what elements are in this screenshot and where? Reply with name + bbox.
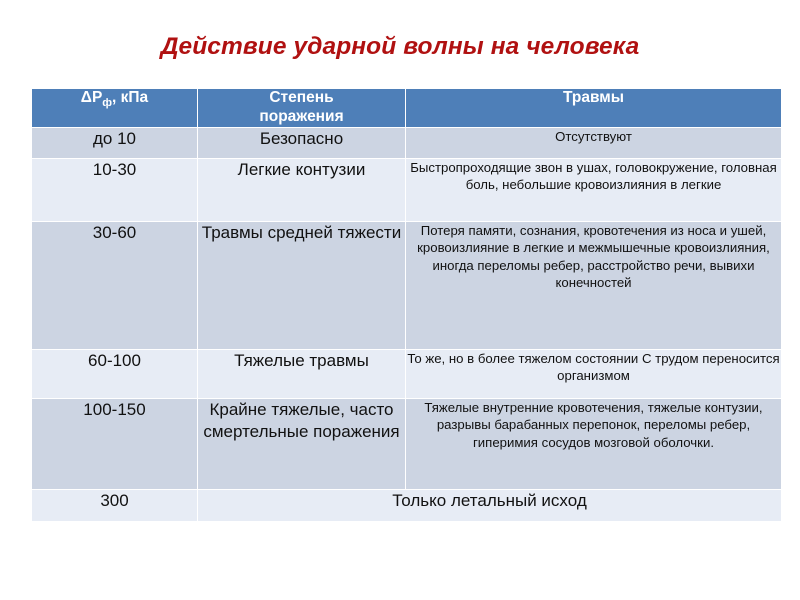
- table-row: 30-60 Травмы средней тяжести Потеря памя…: [32, 221, 782, 349]
- column-header-injuries: Травмы: [406, 89, 782, 128]
- cell-outcome-merged: Только летальный исход: [198, 489, 782, 521]
- cell-pressure: 100-150: [32, 398, 198, 489]
- table-header-row: ΔPф, кПа Степеньпоражения Травмы: [32, 89, 782, 128]
- cell-pressure: до 10: [32, 127, 198, 158]
- column-header-pressure: ΔPф, кПа: [32, 89, 198, 128]
- cell-pressure: 30-60: [32, 221, 198, 349]
- slide-canvas: Действие ударной волны на человека ΔPф, …: [0, 0, 800, 600]
- cell-severity: Травмы средней тяжести: [198, 221, 406, 349]
- column-header-severity: Степеньпоражения: [198, 89, 406, 128]
- cell-injuries: То же, но в более тяжелом состоянии С тр…: [406, 349, 782, 398]
- column-header-pressure-units: , кПа: [112, 89, 148, 106]
- table-row: 100-150 Крайне тяжелые, часто смертельны…: [32, 398, 782, 489]
- column-header-pressure-prefix: ΔP: [81, 89, 102, 106]
- cell-pressure: 10-30: [32, 158, 198, 221]
- cell-injuries: Тяжелые внутренние кровотечения, тяжелые…: [406, 398, 782, 489]
- column-header-pressure-subscript: ф: [102, 97, 112, 109]
- table-body: до 10 Безопасно Отсутствуют 10-30 Легкие…: [32, 127, 782, 521]
- column-header-severity-line2: поражения: [259, 108, 343, 125]
- column-header-severity-line1: Степень: [269, 89, 333, 106]
- table-header: ΔPф, кПа Степеньпоражения Травмы: [32, 89, 782, 128]
- cell-severity: Безопасно: [198, 127, 406, 158]
- cell-injuries: Отсутствуют: [406, 127, 782, 158]
- shock-wave-effects-table: ΔPф, кПа Степеньпоражения Травмы до 10 Б…: [31, 88, 782, 522]
- shock-wave-effects-table-container: ΔPф, кПа Степеньпоражения Травмы до 10 Б…: [31, 88, 781, 522]
- cell-injuries: Быстропроходящие звон в ушах, головокруж…: [406, 158, 782, 221]
- cell-injuries: Потеря памяти, сознания, кровотечения из…: [406, 221, 782, 349]
- cell-severity: Крайне тяжелые, часто смертельные пораже…: [198, 398, 406, 489]
- table-row: до 10 Безопасно Отсутствуют: [32, 127, 782, 158]
- page-title: Действие ударной волны на человека: [0, 33, 800, 61]
- cell-pressure: 60-100: [32, 349, 198, 398]
- cell-severity: Тяжелые травмы: [198, 349, 406, 398]
- table-row: 300 Только летальный исход: [32, 489, 782, 521]
- cell-severity: Легкие контузии: [198, 158, 406, 221]
- table-row: 60-100 Тяжелые травмы То же, но в более …: [32, 349, 782, 398]
- table-row: 10-30 Легкие контузии Быстропроходящие з…: [32, 158, 782, 221]
- cell-pressure: 300: [32, 489, 198, 521]
